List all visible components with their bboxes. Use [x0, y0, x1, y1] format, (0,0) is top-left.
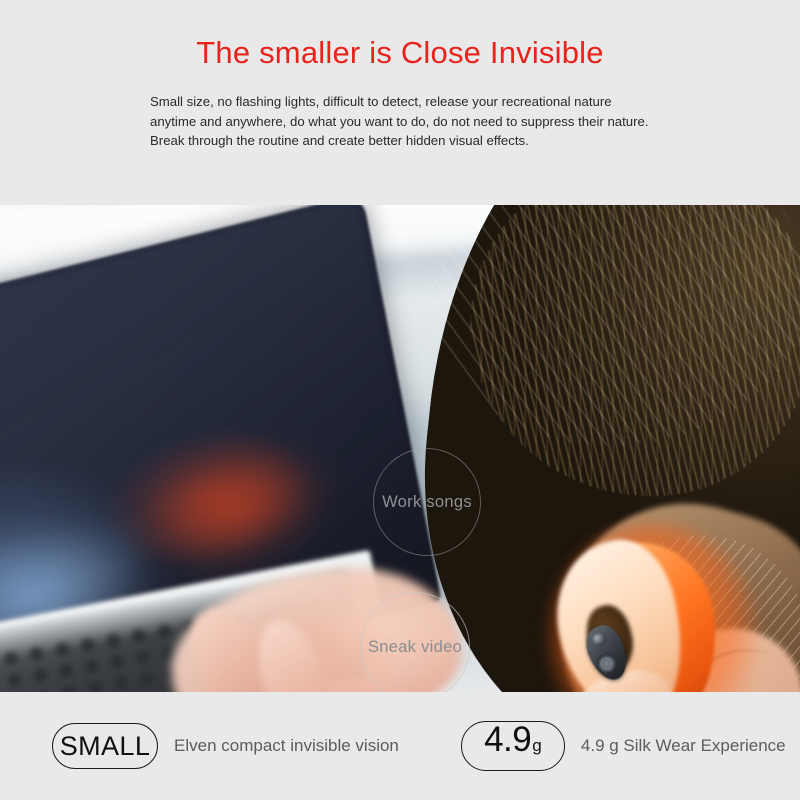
- feature-bar: SMALL Elven compact invisible vision 4.9…: [0, 692, 800, 800]
- overlay-tag-label: Work songs: [382, 493, 472, 512]
- hero-photo: Work songs Sneak video Class Tour: [0, 205, 800, 692]
- overlay-tag-label: Sneak video: [368, 638, 462, 657]
- weight-badge: 4.9 g: [461, 721, 565, 771]
- size-feature-label: Elven compact invisible vision: [174, 736, 399, 756]
- feature-weight: 4.9 g 4.9 g Silk Wear Experience: [461, 721, 786, 771]
- weight-badge-value: 4.9: [484, 722, 531, 757]
- size-badge-text: SMALL: [60, 733, 151, 760]
- overlay-tag-work-songs: Work songs: [373, 448, 481, 556]
- size-badge: SMALL: [52, 723, 158, 769]
- weight-feature-label: 4.9 g Silk Wear Experience: [581, 736, 786, 756]
- overlay-tag-sneak-video: Sneak video: [360, 592, 470, 692]
- page-title: The smaller is Close Invisible: [0, 36, 800, 70]
- weight-badge-unit: g: [532, 737, 541, 754]
- header-section: The smaller is Close Invisible Small siz…: [0, 0, 800, 205]
- feature-size: SMALL Elven compact invisible vision: [52, 723, 399, 769]
- earbud-body-top: [591, 631, 608, 648]
- product-feature-banner: The smaller is Close Invisible Small siz…: [0, 0, 800, 800]
- description-paragraph: Small size, no flashing lights, difficul…: [150, 92, 650, 151]
